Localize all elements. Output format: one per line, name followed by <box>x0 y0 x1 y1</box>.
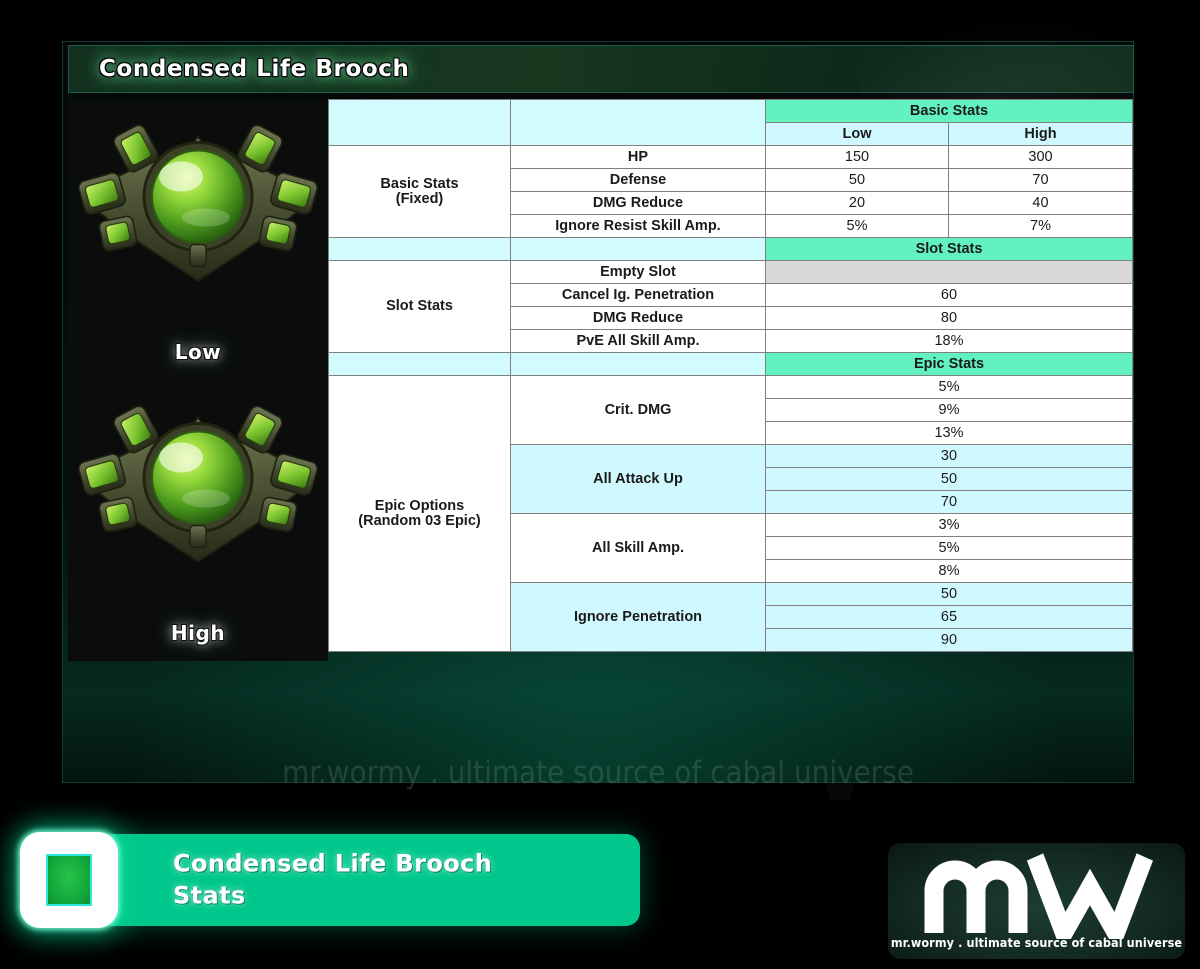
epic-option-value: 30 <box>766 445 1133 468</box>
stat-value-low: 5% <box>766 215 949 238</box>
brooch-icon <box>73 115 323 300</box>
section-banner-slot: Slot Stats <box>766 238 1133 261</box>
group-label-slot: Slot Stats <box>329 261 511 353</box>
section-banner-epic: Epic Stats <box>766 353 1133 376</box>
stat-value-high: 300 <box>949 146 1133 169</box>
section-banner-basic: Basic Stats <box>766 100 1133 123</box>
stat-name: Empty Slot <box>511 261 766 284</box>
epic-option-value: 13% <box>766 422 1133 445</box>
stat-value <box>766 261 1133 284</box>
table-row-epic-banner: Epic Stats <box>329 353 1133 376</box>
group-label-line2: (Fixed) <box>333 192 506 207</box>
item-image-label-low: Low <box>175 340 221 364</box>
stat-value: 18% <box>766 330 1133 353</box>
item-header-bar: Condensed Life Brooch <box>68 45 1134 93</box>
stat-value-high: 70 <box>949 169 1133 192</box>
group-label-line1: Epic Options <box>333 499 506 514</box>
stat-name: DMG Reduce <box>511 192 766 215</box>
bottom-banner-title: Condensed Life Brooch Stats <box>173 848 492 911</box>
epic-option-value: 90 <box>766 629 1133 652</box>
table-row-slot-banner: Slot Stats <box>329 238 1133 261</box>
epic-option-value: 50 <box>766 468 1133 491</box>
epic-option-value: 65 <box>766 606 1133 629</box>
epic-option-value: 5% <box>766 537 1133 560</box>
screenshot-root: Condensed Life Brooch <box>0 0 1200 969</box>
epic-option-value: 70 <box>766 491 1133 514</box>
page-title: Condensed Life Brooch <box>99 56 410 82</box>
group-label-line1: Basic Stats <box>333 177 506 192</box>
stats-table: Basic Stats Low High Basic Stats (Fixed)… <box>328 99 1133 652</box>
spacer-cell <box>329 353 511 376</box>
item-image-high: High <box>68 380 328 661</box>
stat-name: HP <box>511 146 766 169</box>
epic-option-name: Crit. DMG <box>511 376 766 445</box>
brooch-item-icon <box>20 832 118 928</box>
epic-option-value: 5% <box>766 376 1133 399</box>
stat-value-low: 20 <box>766 192 949 215</box>
spacer-cell <box>511 238 766 261</box>
stat-value-high: 7% <box>949 215 1133 238</box>
epic-option-value: 3% <box>766 514 1133 537</box>
item-image-label-high: High <box>171 621 225 645</box>
subheader-low: Low <box>766 123 949 146</box>
epic-option-name: All Attack Up <box>511 445 766 514</box>
brooch-item-icon-square <box>46 854 92 906</box>
item-image-low: Low <box>68 99 328 380</box>
epic-option-name: All Skill Amp. <box>511 514 766 583</box>
brooch-icon <box>73 396 323 581</box>
stat-value: 60 <box>766 284 1133 307</box>
stat-name: Ignore Resist Skill Amp. <box>511 215 766 238</box>
spacer-cell <box>329 238 511 261</box>
stat-name: Defense <box>511 169 766 192</box>
stat-value: 80 <box>766 307 1133 330</box>
mw-logo-mark <box>912 847 1162 939</box>
spacer-cell <box>329 100 511 146</box>
table-row: Slot Stats Empty Slot <box>329 261 1133 284</box>
group-label-epic: Epic Options (Random 03 Epic) <box>329 376 511 652</box>
spacer-cell <box>511 353 766 376</box>
mw-logo: mr.wormy . ultimate source of cabal univ… <box>888 843 1185 959</box>
stat-name: Cancel Ig. Penetration <box>511 284 766 307</box>
group-label-basic: Basic Stats (Fixed) <box>329 146 511 238</box>
epic-option-value: 9% <box>766 399 1133 422</box>
stat-value-high: 40 <box>949 192 1133 215</box>
stat-value-low: 150 <box>766 146 949 169</box>
table-row: Epic Options (Random 03 Epic) Crit. DMG … <box>329 376 1133 399</box>
bottom-banner: Condensed Life Brooch Stats <box>28 834 640 926</box>
table-row: Basic Stats (Fixed) HP 150 300 <box>329 146 1133 169</box>
spacer-cell <box>511 100 766 146</box>
epic-option-value: 8% <box>766 560 1133 583</box>
epic-option-name: Ignore Penetration <box>511 583 766 652</box>
item-image-column: Low <box>68 99 328 661</box>
epic-option-value: 50 <box>766 583 1133 606</box>
mw-logo-tagline: mr.wormy . ultimate source of cabal univ… <box>888 935 1185 950</box>
table-row-basic-banner: Basic Stats <box>329 100 1133 123</box>
stat-name: DMG Reduce <box>511 307 766 330</box>
stat-value-low: 50 <box>766 169 949 192</box>
subheader-high: High <box>949 123 1133 146</box>
stat-name: PvE All Skill Amp. <box>511 330 766 353</box>
group-label-line2: (Random 03 Epic) <box>333 514 506 529</box>
